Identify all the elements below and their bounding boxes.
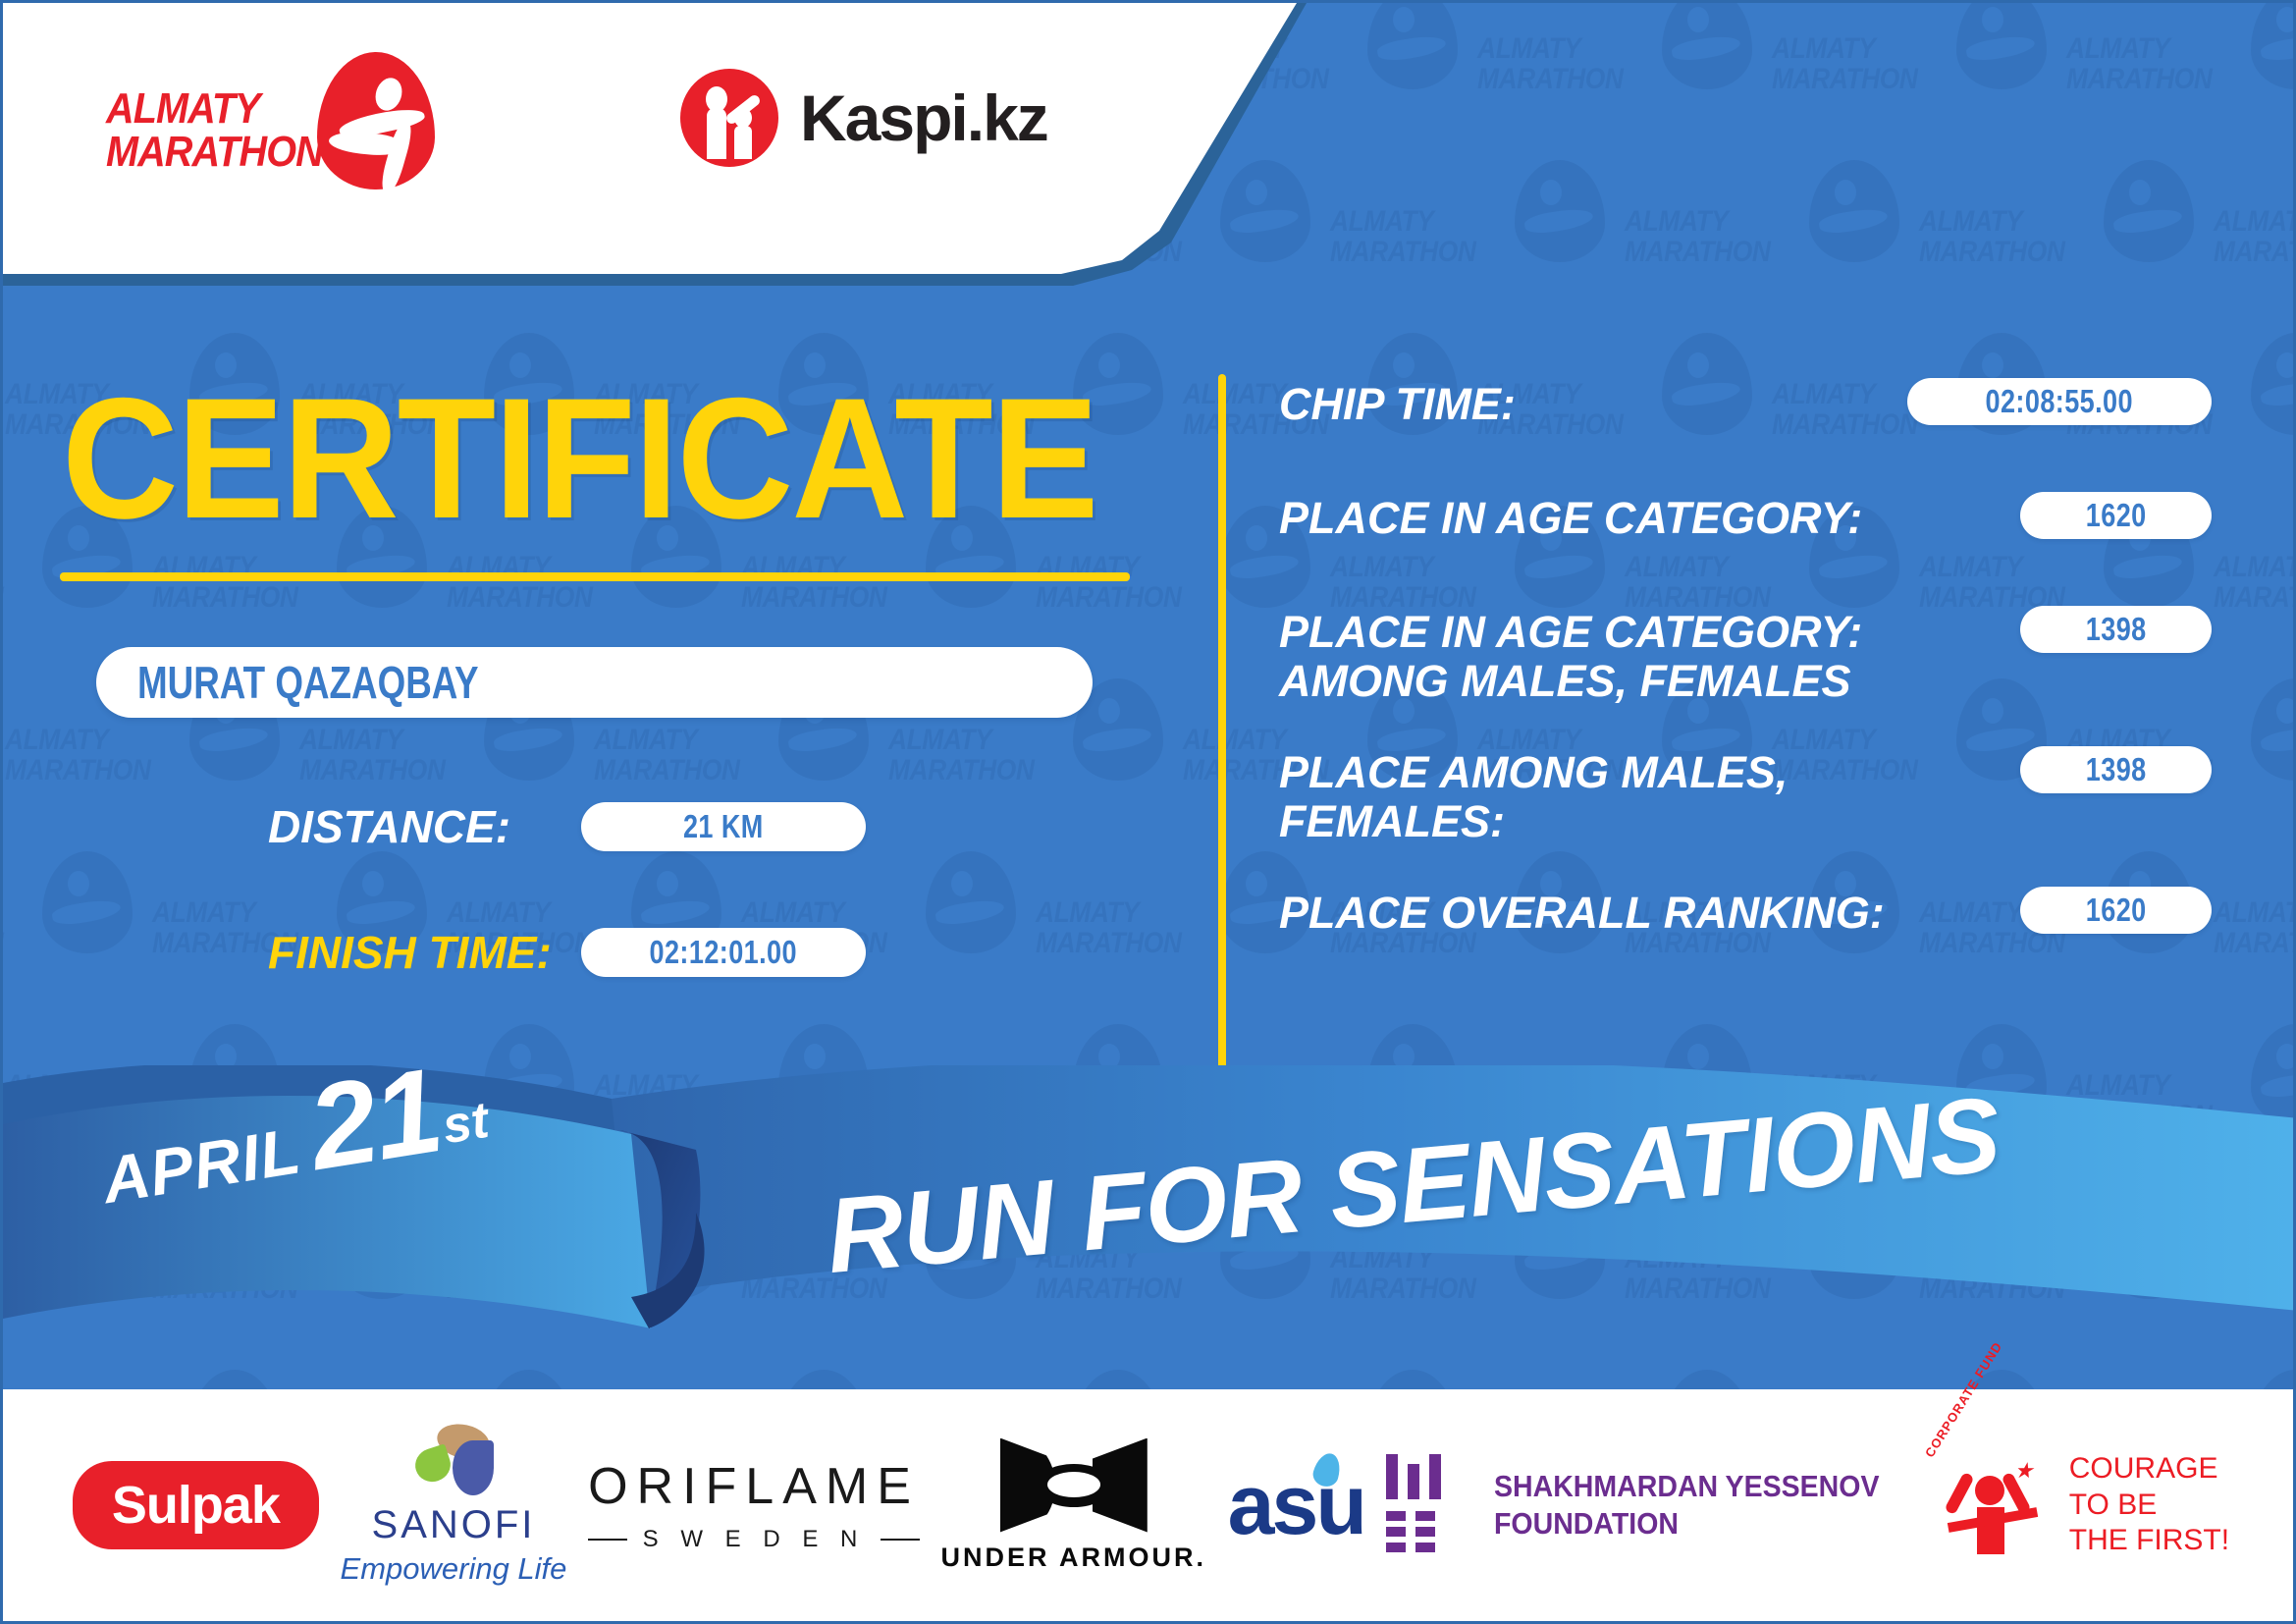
participant-name-value: MURAT QAZAQBAY [137,656,479,709]
stat-row: PLACE OVERALL RANKING:1620 [1279,885,2212,961]
event-date-month: APRIL [97,1113,305,1217]
stat-value-pill: 1620 [2020,887,2212,934]
stats-column: CHIP TIME:02:08:55.00PLACE IN AGE CATEGO… [1279,376,2212,999]
stat-label: PLACE IN AGE CATEGORY: AMONG MALES, FEMA… [1279,604,1862,707]
stat-value: 1620 [2086,892,2147,929]
finish-time-value: 02:12:01.00 [650,934,797,971]
sponsor-logo-courage-to-be-the-first: ★ CORPORATE FUND COURAGE TO BE THE FIRST… [1934,1450,2229,1560]
stat-row: PLACE IN AGE CATEGORY:1620 [1279,490,2212,567]
finish-time-value-pill: 02:12:01.00 [581,928,866,977]
stat-value: 1398 [2086,751,2147,788]
sponsor-strip: Sulpak SANOFI Empowering Life ORIFLAME S… [3,1389,2296,1621]
courage-runner-icon: ★ CORPORATE FUND [1934,1450,2052,1560]
kaspi-people-icon [680,69,778,167]
sponsor-logo-oriflame-text: ORIFLAME [588,1457,920,1516]
finish-time-row: FINISH TIME: 02:12:01.00 [268,926,866,979]
distance-value-pill: 21 KM [581,802,866,851]
stat-value: 1398 [2086,611,2147,648]
kaspi-kz-logo: Kaspi.kz [680,64,1047,172]
sponsor-logo-oriflame: ORIFLAME S W E D E N [588,1457,920,1553]
sponsor-logo-shakhmardan-text: SHAKHMARDAN YESSENOV FOUNDATION [1494,1468,1879,1543]
sponsor-logo-courage-text: COURAGE TO BE THE FIRST! [2069,1451,2229,1559]
sponsor-logo-sanofi: SANOFI Empowering Life [341,1425,567,1587]
stat-value-pill: 02:08:55.00 [1907,378,2212,425]
stat-value-pill: 1398 [2020,606,2212,653]
stat-label: PLACE OVERALL RANKING: [1279,885,1885,938]
stat-row: CHIP TIME:02:08:55.00 [1279,376,2212,453]
stat-row: PLACE AMONG MALES, FEMALES:1398 [1279,744,2212,847]
certificate-page: ALMATYMARATHONALMATYMARATHONALMATYMARATH… [0,0,2296,1624]
sponsor-logo-sanofi-tagline: Empowering Life [341,1551,567,1587]
sponsor-logo-sulpak-text: Sulpak [112,1475,280,1536]
almaty-marathon-logo-text: ALMATY MARATHON [106,87,323,174]
stat-value: 1620 [2086,497,2147,534]
sponsor-logo-under-armour: UNDER ARMOUR. [941,1438,1207,1573]
left-column: CERTIFICATE MURAT QAZAQBAY DISTANCE: 21 … [3,3,1210,1624]
stat-label: PLACE AMONG MALES, FEMALES: [1279,744,1788,847]
almaty-marathon-logo: ALMATY MARATHON [106,50,430,168]
participant-name-field: MURAT QAZAQBAY [96,647,1093,718]
stat-row: PLACE IN AGE CATEGORY: AMONG MALES, FEMA… [1279,604,2212,707]
sponsor-logo-oriflame-tagline-row: S W E D E N [588,1526,920,1553]
stat-value: 02:08:55.00 [1986,383,2133,420]
under-armour-icon [1000,1438,1148,1533]
sponsor-logo-sulpak: Sulpak [73,1461,319,1549]
sanofi-bird-icon [411,1425,496,1497]
stat-label: CHIP TIME: [1279,376,1516,429]
yessenov-foundation-icon [1386,1454,1467,1556]
almaty-marathon-runner-icon [317,52,435,189]
kaspi-kz-logo-text: Kaspi.kz [800,81,1047,155]
finish-time-label: FINISH TIME: [268,926,552,979]
sponsor-logo-asu-text: asu [1228,1457,1364,1554]
sponsor-logo-under-armour-text: UNDER ARMOUR. [941,1543,1207,1573]
vertical-divider [1218,374,1226,1101]
distance-value: 21 KM [683,808,764,845]
sponsor-logo-oriflame-tagline: S W E D E N [643,1526,866,1553]
page-title: CERTIFICATE [62,378,1097,541]
title-underline [60,572,1130,581]
sponsor-logo-shakhmardan-yessenov-foundation: SHAKHMARDAN YESSENOV FOUNDATION [1386,1454,1913,1556]
event-date-day: 21 [300,1043,449,1195]
stat-value-pill: 1398 [2020,746,2212,793]
sponsor-logo-asu: asu [1228,1457,1364,1554]
distance-row: DISTANCE: 21 KM [268,800,866,853]
stat-label: PLACE IN AGE CATEGORY: [1279,490,1862,543]
stat-value-pill: 1620 [2020,492,2212,539]
event-date-suffix: st [439,1092,493,1156]
courage-corporate-fund-arc-text: CORPORATE FUND [1922,1339,2005,1460]
distance-label: DISTANCE: [268,800,510,853]
sponsor-logo-sanofi-text: SANOFI [372,1503,536,1547]
